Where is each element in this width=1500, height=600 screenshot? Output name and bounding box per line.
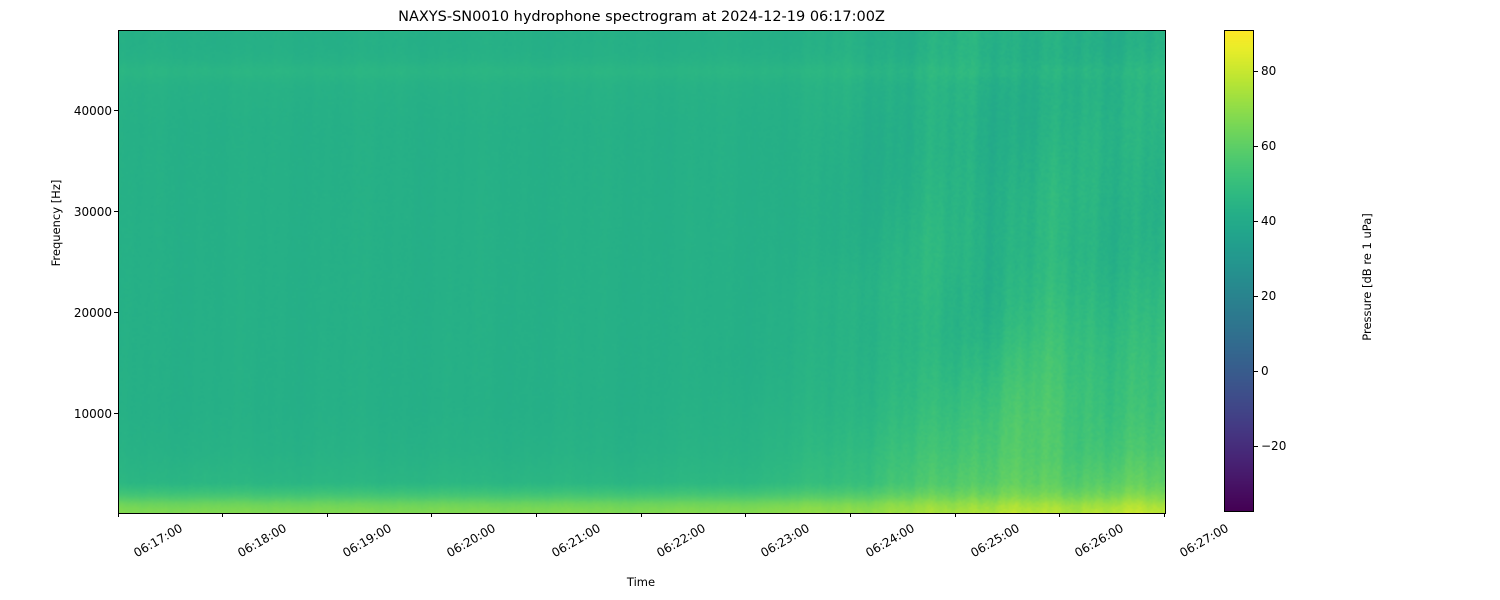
- y-tick-label-30000: 30000: [0, 205, 112, 219]
- x-tick-mark-10: [1164, 513, 1165, 517]
- x-tick-mark-6: [745, 513, 746, 517]
- page-title: NAXYS-SN0010 hydrophone spectrogram at 2…: [0, 9, 1283, 25]
- y-tick-label-20000: 20000: [0, 306, 112, 320]
- colorbar-tick-mark-80: [1254, 71, 1258, 72]
- x-tick-mark-9: [1059, 513, 1060, 517]
- x-tick-mark-7: [850, 513, 851, 517]
- x-tick-mark-3: [431, 513, 432, 517]
- x-tick-label-9: 06:26:00: [1072, 521, 1126, 560]
- spectrogram-axes: [118, 30, 1166, 514]
- figure: NAXYS-SN0010 hydrophone spectrogram at 2…: [0, 0, 1500, 600]
- x-tick-label-4: 06:21:00: [549, 521, 603, 560]
- colorbar-tick-mark-40: [1254, 221, 1258, 222]
- x-tick-mark-8: [955, 513, 956, 517]
- colorbar-tick-mark-60: [1254, 146, 1258, 147]
- x-tick-mark-5: [641, 513, 642, 517]
- x-tick-mark-0: [118, 513, 119, 517]
- x-tick-mark-2: [327, 513, 328, 517]
- colorbar-axis-label: Pressure [dB re 1 uPa]: [1360, 147, 1374, 407]
- colorbar-tick-label-0: 0: [1261, 364, 1269, 378]
- colorbar-tick-mark-0: [1254, 371, 1258, 372]
- colorbar-gradient: [1225, 31, 1253, 511]
- colorbar-tick-label-60: 60: [1261, 139, 1276, 153]
- colorbar-tick-mark-neg20: [1254, 446, 1258, 447]
- colorbar: [1224, 30, 1254, 512]
- x-tick-label-3: 06:20:00: [444, 521, 498, 560]
- y-axis-label: Frequency [Hz]: [49, 163, 63, 283]
- colorbar-tick-label-40: 40: [1261, 214, 1276, 228]
- spectrogram-image: [119, 31, 1165, 513]
- x-tick-label-7: 06:24:00: [863, 521, 917, 560]
- x-tick-mark-4: [536, 513, 537, 517]
- y-tick-label-40000: 40000: [0, 104, 112, 118]
- y-tick-label-10000: 10000: [0, 407, 112, 421]
- x-tick-label-0: 06:17:00: [131, 521, 185, 560]
- x-tick-label-2: 06:19:00: [340, 521, 394, 560]
- x-axis-label: Time: [118, 575, 1164, 589]
- x-tick-label-1: 06:18:00: [235, 521, 289, 560]
- x-tick-label-8: 06:25:00: [968, 521, 1022, 560]
- x-tick-label-10: 06:27:00: [1177, 521, 1231, 560]
- x-tick-mark-1: [222, 513, 223, 517]
- colorbar-tick-label-20: 20: [1261, 289, 1276, 303]
- colorbar-tick-mark-20: [1254, 296, 1258, 297]
- colorbar-tick-label-80: 80: [1261, 64, 1276, 78]
- x-tick-label-5: 06:22:00: [654, 521, 708, 560]
- x-tick-label-6: 06:23:00: [758, 521, 812, 560]
- colorbar-tick-label-neg20: −20: [1261, 439, 1286, 453]
